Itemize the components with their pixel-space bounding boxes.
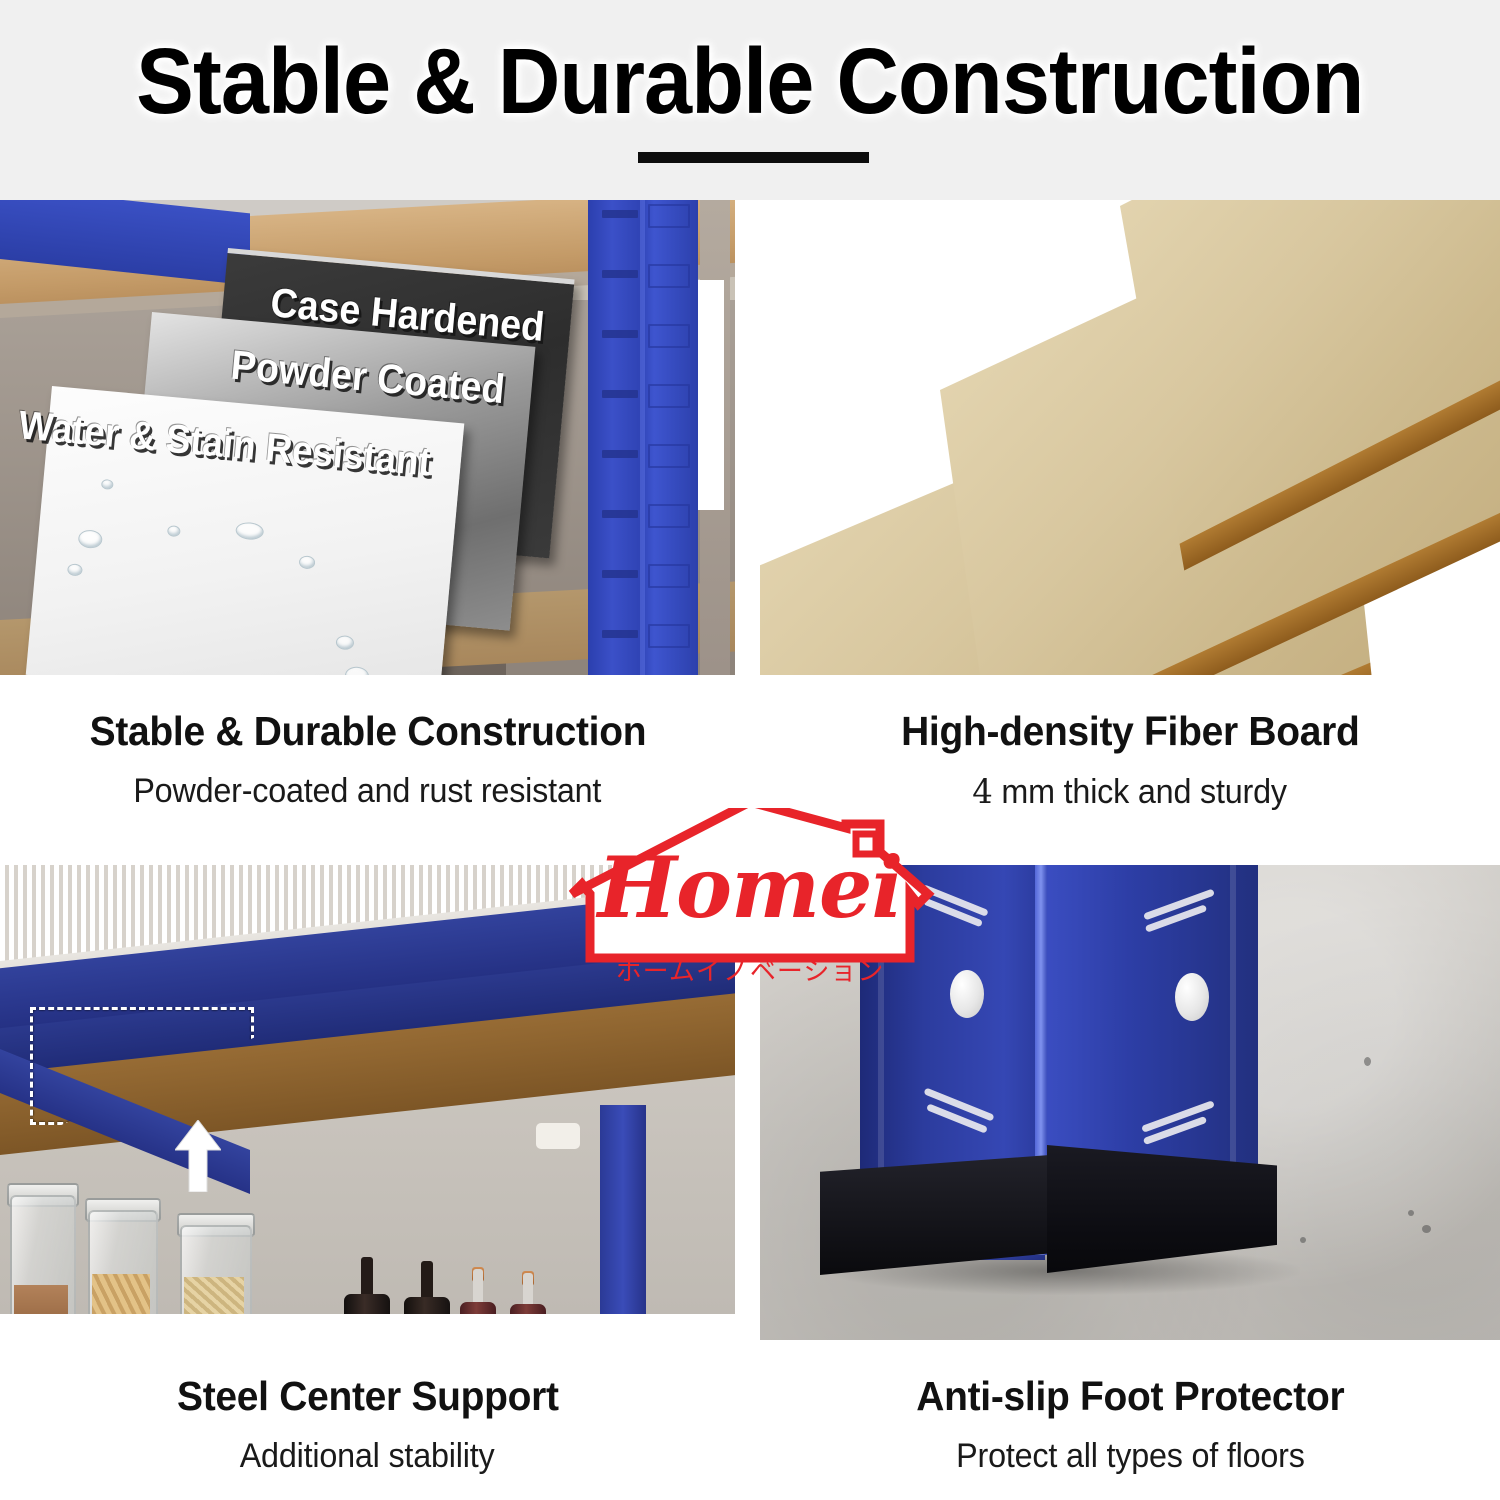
post-round-hole <box>950 970 984 1018</box>
water-droplet <box>335 635 354 651</box>
caption-title: Anti-slip Foot Protector <box>916 1373 1344 1420</box>
right-blue-post <box>600 1105 646 1340</box>
post-round-hole <box>1175 973 1209 1021</box>
caption-subtitle: Additional stability <box>240 1437 495 1476</box>
caption-title: Stable & Durable Construction <box>89 708 646 755</box>
caption-title: Steel Center Support <box>177 1373 559 1420</box>
water-droplet <box>299 555 316 569</box>
caption-title: High-density Fiber Board <box>901 708 1359 755</box>
background-gap <box>698 280 724 510</box>
photo-bottom-fade <box>0 1314 735 1340</box>
water-droplet <box>67 563 83 576</box>
caption-subtitle: Protect all types of floors <box>956 1437 1305 1476</box>
floor-speck <box>1422 1225 1431 1233</box>
post-highlight-edge <box>640 200 645 675</box>
thickness-value: 4 <box>973 772 993 812</box>
feature-cell-construction: Case Hardened Powder Coated Water & Stai… <box>0 200 735 860</box>
logo-wordmark: Homei <box>560 846 940 930</box>
water-droplet <box>344 666 370 675</box>
caption-foot-protector: Anti-slip Foot Protector Protect all typ… <box>760 1340 1500 1500</box>
logo-tagline-japanese: ホームイノベーション <box>560 951 940 988</box>
title-underline-bar <box>638 152 869 163</box>
photo-mdf-boards <box>760 200 1500 675</box>
floor-speck <box>1300 1237 1306 1243</box>
water-droplet <box>78 529 104 549</box>
thickness-unit-text: mm thick and sturdy <box>993 773 1287 811</box>
feature-cell-fiber-board: High-density Fiber Board 4 mm thick and … <box>760 200 1500 860</box>
caption-center-support: Steel Center Support Additional stabilit… <box>0 1340 735 1500</box>
floor-speck <box>1408 1210 1414 1216</box>
water-droplet <box>101 479 114 490</box>
caption-subtitle: Powder-coated and rust resistant <box>134 772 602 811</box>
water-droplet <box>235 521 264 540</box>
header-banner: Stable & Durable Construction <box>0 0 1500 200</box>
water-droplet <box>167 525 181 537</box>
page-title: Stable & Durable Construction <box>136 34 1363 129</box>
infographic-page: Stable & Durable Construction <box>0 0 1500 1500</box>
white-shelf-knob <box>536 1123 580 1149</box>
homei-logo: Homei ホームイノベーション <box>560 808 940 998</box>
caption-subtitle: 4 mm thick and sturdy <box>973 772 1288 812</box>
sheet-water-stain-resistant: Water & Stain Resistant <box>26 386 465 675</box>
up-arrow-icon <box>175 1120 221 1192</box>
floor-speck <box>1364 1057 1371 1066</box>
photo-layered-steel-sheets: Case Hardened Powder Coated Water & Stai… <box>0 200 735 675</box>
